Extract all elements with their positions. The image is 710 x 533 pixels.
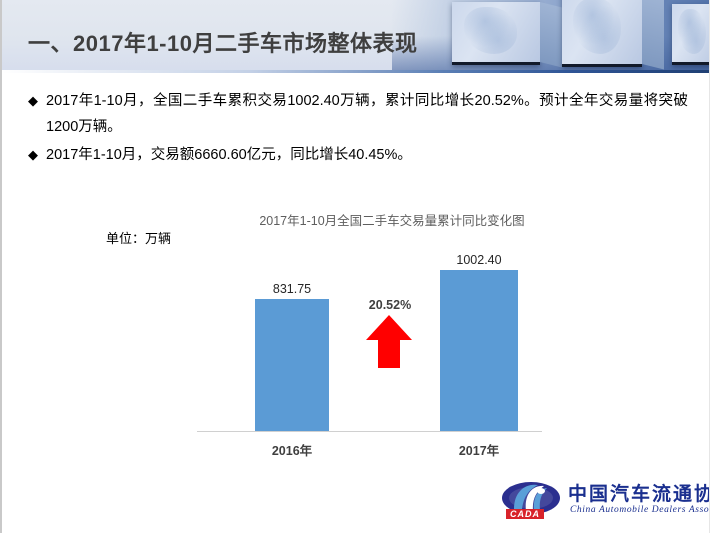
list-item: ◆ 2017年1-10月，交易额6660.60亿元，同比增长40.45%。: [28, 142, 688, 168]
globe-map-icon: [573, 0, 621, 54]
globe-map-icon: [678, 9, 706, 54]
organization-logo: CADA 中国汽车流通协会 China Automobile Dealers A…: [500, 477, 706, 527]
cube-side-face: [540, 2, 562, 67]
logo-chinese-name: 中国汽车流通协会: [568, 479, 710, 506]
chart-unit-label: 单位：万辆: [106, 228, 171, 247]
decorative-cube-icon: [562, 0, 642, 67]
bar-value-label-2016: 831.75: [255, 282, 329, 296]
cube-side-face: [642, 0, 664, 69]
bar-value-label-2017: 1002.40: [440, 253, 518, 267]
decorative-cube-icon: [452, 2, 540, 65]
chart-plot-area: 831.75 1002.40 20.52% 2016年 2017年: [197, 240, 542, 432]
bar-2017: [440, 270, 518, 431]
decorative-cube-icon: [672, 4, 710, 65]
bullet-list: ◆ 2017年1-10月，全国二手车累积交易1002.40万辆，累计同比增长20…: [28, 88, 688, 170]
category-label-2017: 2017年: [434, 440, 524, 459]
header-divider: [2, 70, 710, 73]
bullet-text: 2017年1-10月，交易额6660.60亿元，同比增长40.45%。: [46, 142, 688, 168]
logo-badge: CADA: [506, 509, 544, 519]
globe-map-icon: [464, 7, 517, 54]
slide-header: 一、2017年1-10月二手车市场整体表现: [2, 0, 710, 72]
chart-title: 2017年1-10月全国二手车交易量累计同比变化图: [192, 210, 592, 229]
category-label-2016: 2016年: [247, 440, 337, 459]
bar-2016: [255, 299, 329, 431]
list-item: ◆ 2017年1-10月，全国二手车累积交易1002.40万辆，累计同比增长20…: [28, 88, 688, 140]
bullet-text: 2017年1-10月，全国二手车累积交易1002.40万辆，累计同比增长20.5…: [46, 88, 688, 140]
x-axis-line: [197, 431, 542, 432]
slide-canvas: 一、2017年1-10月二手车市场整体表现 ◆ 2017年1-10月，全国二手车…: [0, 0, 710, 533]
header-decorative-image: [392, 0, 710, 72]
page-title: 一、2017年1-10月二手车市场整体表现: [28, 26, 417, 58]
diamond-bullet-icon: ◆: [28, 142, 46, 168]
up-arrow-icon: [365, 314, 413, 369]
logo-english-name: China Automobile Dealers Association: [570, 505, 710, 515]
diamond-bullet-icon: ◆: [28, 88, 46, 114]
bar-chart: 2017年1-10月全国二手车交易量累计同比变化图 单位：万辆 831.75 1…: [2, 198, 710, 466]
growth-rate-label: 20.52%: [345, 298, 435, 312]
